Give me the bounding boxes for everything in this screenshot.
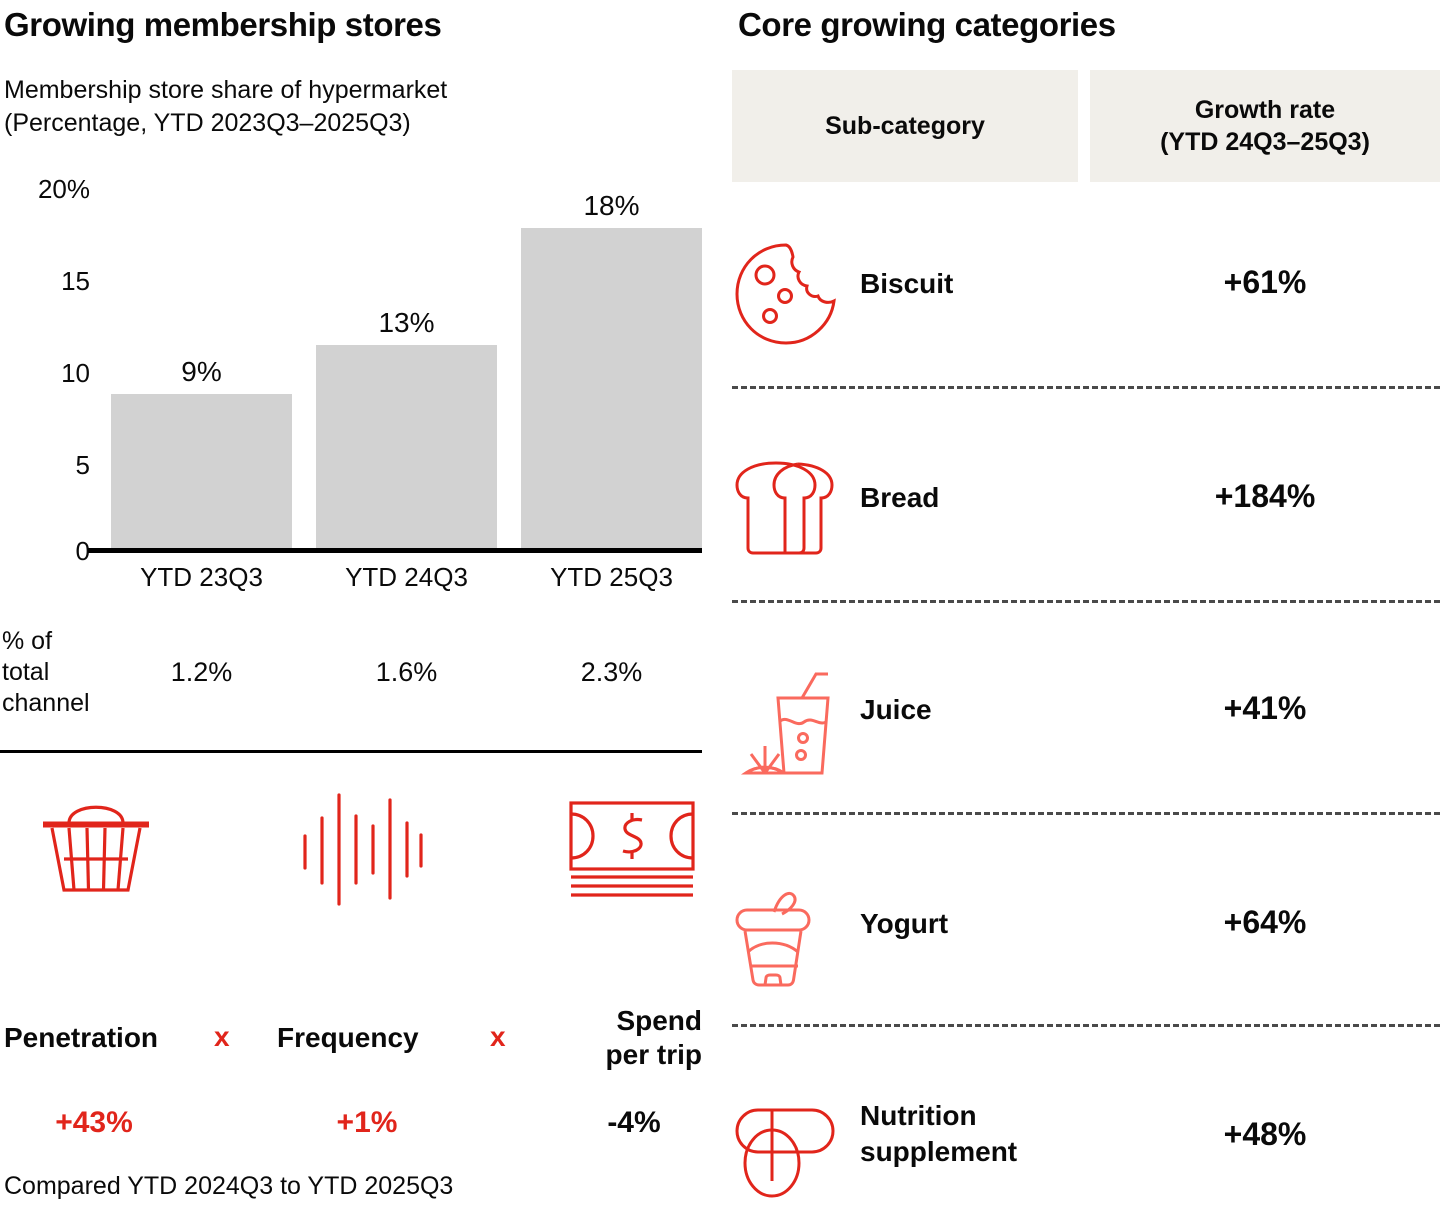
row-separator bbox=[732, 600, 1440, 603]
page-title-left: Growing membership stores bbox=[4, 6, 441, 44]
bar-chart: 20% 15 10 5 0 9% 13% 18% YTD 23Q3 YTD 24… bbox=[0, 170, 712, 600]
bar-label-ytd-23q3: 9% bbox=[111, 356, 292, 388]
driver-value-penetration: +43% bbox=[4, 1106, 184, 1140]
row-separator bbox=[732, 812, 1440, 815]
column-header-sub-category: Sub-category bbox=[732, 70, 1078, 182]
multiply-symbol-2: x bbox=[490, 1021, 506, 1053]
left-panel: Growing membership stores Membership sto… bbox=[0, 0, 720, 1215]
juice-glass-icon bbox=[732, 668, 840, 783]
row-separator bbox=[732, 386, 1440, 389]
table-row: Bread +184% bbox=[732, 440, 1440, 610]
row-separator bbox=[732, 1024, 1440, 1027]
multiply-symbol-1: x bbox=[214, 1021, 230, 1053]
row-label-bread: Bread bbox=[860, 480, 939, 516]
nutrition-supplement-icon bbox=[732, 1098, 840, 1203]
y-axis-tick-5: 5 bbox=[76, 450, 90, 481]
y-axis-tick-15: 15 bbox=[61, 266, 90, 297]
column-header-growth-rate: Growth rate (YTD 24Q3–25Q3) bbox=[1090, 70, 1440, 182]
row-rate-yogurt: +64% bbox=[1090, 904, 1440, 941]
table-row: Yogurt +64% bbox=[732, 862, 1440, 1032]
driver-label-penetration: Penetration bbox=[4, 1021, 158, 1055]
table-row: Juice +41% bbox=[732, 650, 1440, 820]
shopping-basket-icon bbox=[36, 790, 156, 905]
banknote-dollar-icon bbox=[568, 800, 696, 905]
x-axis-tick-1: YTD 24Q3 bbox=[316, 562, 497, 593]
y-axis-tick-20: 20% bbox=[38, 174, 90, 205]
infographic-root: Growing membership stores Membership sto… bbox=[0, 0, 1440, 1215]
bar-ytd-25q3 bbox=[521, 228, 702, 548]
chart-subtitle: Membership store share of hypermarket (P… bbox=[4, 74, 664, 140]
driver-value-frequency: +1% bbox=[277, 1106, 457, 1140]
x-axis-line bbox=[88, 548, 702, 553]
yogurt-cup-icon bbox=[732, 880, 840, 995]
row-label-biscuit: Biscuit bbox=[860, 266, 953, 302]
table-row: Nutrition supplement +48% bbox=[732, 1070, 1440, 1215]
biscuit-icon bbox=[732, 240, 840, 353]
section-divider bbox=[0, 750, 702, 753]
driver-value-spend-per-trip: -4% bbox=[566, 1106, 702, 1140]
share-value-ytd-24q3: 1.6% bbox=[316, 657, 497, 688]
x-axis-tick-2: YTD 25Q3 bbox=[521, 562, 702, 593]
share-value-ytd-25q3: 2.3% bbox=[521, 657, 702, 688]
row-rate-biscuit: +61% bbox=[1090, 264, 1440, 301]
row-label-nutrition-supplement: Nutrition supplement bbox=[860, 1098, 1017, 1170]
page-title-right: Core growing categories bbox=[738, 6, 1116, 44]
table-row: Biscuit +61% bbox=[732, 222, 1440, 392]
bar-label-ytd-24q3: 13% bbox=[316, 307, 497, 339]
share-value-ytd-23q3: 1.2% bbox=[111, 657, 292, 688]
row-rate-juice: +41% bbox=[1090, 690, 1440, 727]
row-label-juice: Juice bbox=[860, 692, 932, 728]
driver-label-spend-per-trip: Spend per trip bbox=[576, 1004, 702, 1072]
bar-ytd-23q3 bbox=[111, 394, 292, 548]
frequency-bars-icon bbox=[295, 788, 425, 913]
row-rate-bread: +184% bbox=[1090, 478, 1440, 515]
bar-ytd-24q3 bbox=[316, 345, 497, 548]
bar-label-ytd-25q3: 18% bbox=[521, 190, 702, 222]
share-of-total-channel-label: % of total channel bbox=[2, 626, 90, 719]
driver-label-frequency: Frequency bbox=[277, 1021, 419, 1055]
bread-loaf-icon bbox=[732, 458, 840, 563]
y-axis-tick-10: 10 bbox=[61, 358, 90, 389]
row-label-yogurt: Yogurt bbox=[860, 906, 948, 942]
footnote-text: Compared YTD 2024Q3 to YTD 2025Q3 bbox=[4, 1172, 453, 1201]
x-axis-tick-0: YTD 23Q3 bbox=[111, 562, 292, 593]
row-rate-nutrition-supplement: +48% bbox=[1090, 1116, 1440, 1153]
